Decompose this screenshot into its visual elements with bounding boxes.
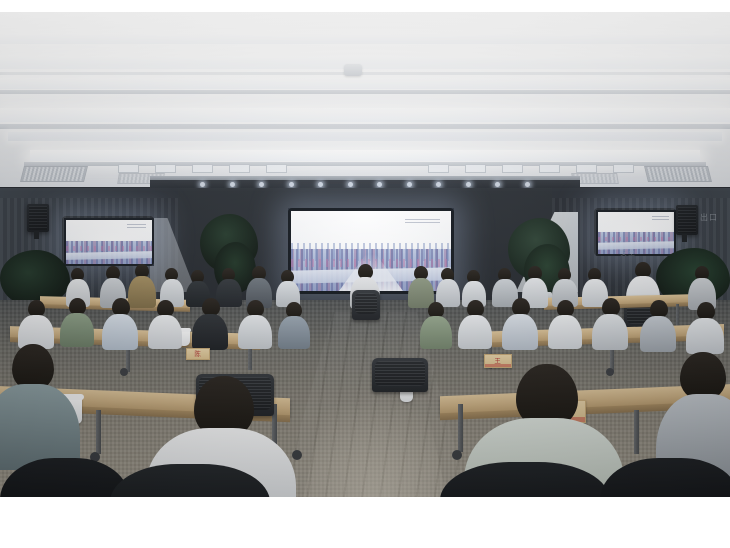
ceiling-rail-3 [0, 124, 730, 129]
ceiling-light-strip-3 [0, 78, 730, 89]
ceiling-light-strip-2 [0, 56, 730, 69]
speaker-grill [678, 207, 696, 233]
attendee [436, 268, 460, 306]
table-leg [634, 410, 639, 454]
screen-title-text [127, 224, 146, 228]
screen-title-text [652, 216, 669, 219]
attendee-head [680, 352, 726, 400]
attendee-torso [640, 316, 676, 352]
attendee-torso [420, 316, 452, 349]
chair [372, 358, 428, 392]
name-placard-text: 陈 [194, 349, 201, 358]
recessed-downlight [229, 164, 250, 173]
screen-river [66, 251, 152, 260]
conference-room-photo: 出口 安全 [0, 12, 730, 497]
ceiling-light-strip-1 [0, 34, 730, 44]
attendee-torso [592, 314, 628, 350]
spotlight-icon [436, 182, 441, 187]
attendee-torso [102, 314, 138, 350]
ceiling-light-strip-6 [30, 150, 700, 161]
attendee [278, 302, 310, 348]
attendee-foreground [110, 464, 270, 497]
ceiling-rail-1 [0, 72, 730, 75]
wall-speaker-left [27, 204, 49, 232]
ceiling-air-vent-1 [20, 166, 88, 182]
attendee [148, 300, 182, 348]
attendee-torso [458, 315, 492, 349]
attendee [192, 298, 228, 348]
left-screen-image [66, 220, 152, 264]
spotlight-icon [377, 182, 382, 187]
attendee-torso [238, 315, 272, 349]
recessed-downlight [576, 164, 597, 173]
spotlight-icon [230, 182, 235, 187]
attendee-torso [548, 315, 582, 349]
attendee-foreground [600, 458, 730, 497]
name-placard-mid: 陈 [186, 348, 210, 360]
recessed-downlight [539, 164, 560, 173]
spotlight-icon [289, 182, 294, 187]
recessed-downlight [502, 164, 523, 173]
chair [352, 290, 380, 320]
spotlight-icon [259, 182, 264, 187]
screen-cityscape-accent [66, 246, 152, 250]
ceiling-light-strip-4 [0, 108, 730, 122]
attendee [420, 302, 452, 348]
attendee-torso [440, 462, 610, 497]
attendee [458, 300, 492, 348]
attendee [640, 300, 676, 350]
ceiling-air-vent-2 [644, 166, 712, 182]
attendee-torso [60, 313, 94, 347]
spotlight-icon [466, 182, 471, 187]
attendee [548, 300, 582, 348]
recessed-downlight [613, 164, 634, 173]
wall-sign-safety: 安全 [620, 248, 646, 258]
table-leg [96, 410, 101, 454]
chair-caster [120, 368, 128, 376]
attendee [238, 300, 272, 348]
attendee-torso [192, 314, 228, 350]
screenshot-root: 出口 安全 [0, 0, 730, 548]
recessed-downlight [192, 164, 213, 173]
smoke-detector-icon [344, 64, 362, 76]
chair-mesh-back [355, 293, 377, 314]
speaker-bracket-right [682, 234, 687, 242]
attendee [502, 298, 538, 348]
attendee-torso [600, 458, 730, 497]
ceiling-light-strip-5 [8, 132, 722, 141]
attendee-foreground [440, 462, 610, 497]
recessed-downlight [266, 164, 287, 173]
spotlight-icon [407, 182, 412, 187]
spotlight-icon [525, 182, 530, 187]
attendee-torso [148, 315, 182, 349]
attendee [408, 266, 434, 306]
spotlight-icon [348, 182, 353, 187]
spotlight-icon [495, 182, 500, 187]
recessed-downlight [465, 164, 486, 173]
chair-caster [452, 450, 462, 460]
attendee [18, 300, 54, 348]
attendee [102, 298, 138, 348]
speaker-grill [29, 206, 47, 230]
recessed-downlight [155, 164, 176, 173]
speaker-bracket-left [34, 231, 39, 239]
wall-sign-exit: 出口 [700, 212, 726, 223]
attendee-torso [502, 314, 538, 350]
attendee [592, 298, 628, 348]
attendee [60, 298, 94, 346]
screen-title-text [405, 219, 440, 225]
ceiling-rail-2 [0, 90, 730, 94]
spotlight-icon [200, 182, 205, 187]
wall-speaker-right [676, 205, 698, 235]
downlight-row-left [118, 164, 287, 171]
attendee [686, 302, 724, 352]
downlight-row-right [428, 164, 634, 171]
recessed-downlight [118, 164, 139, 173]
chair-mesh-back [375, 361, 425, 386]
spotlight-icon [318, 182, 323, 187]
attendee-torso [278, 316, 310, 349]
attendee-torso [110, 464, 270, 497]
attendee-foreground [0, 344, 80, 464]
attendee-torso [686, 318, 724, 354]
attendee [276, 270, 300, 306]
side-screen-left[interactable] [64, 218, 154, 266]
table-leg [458, 404, 463, 452]
recessed-downlight [428, 164, 449, 173]
